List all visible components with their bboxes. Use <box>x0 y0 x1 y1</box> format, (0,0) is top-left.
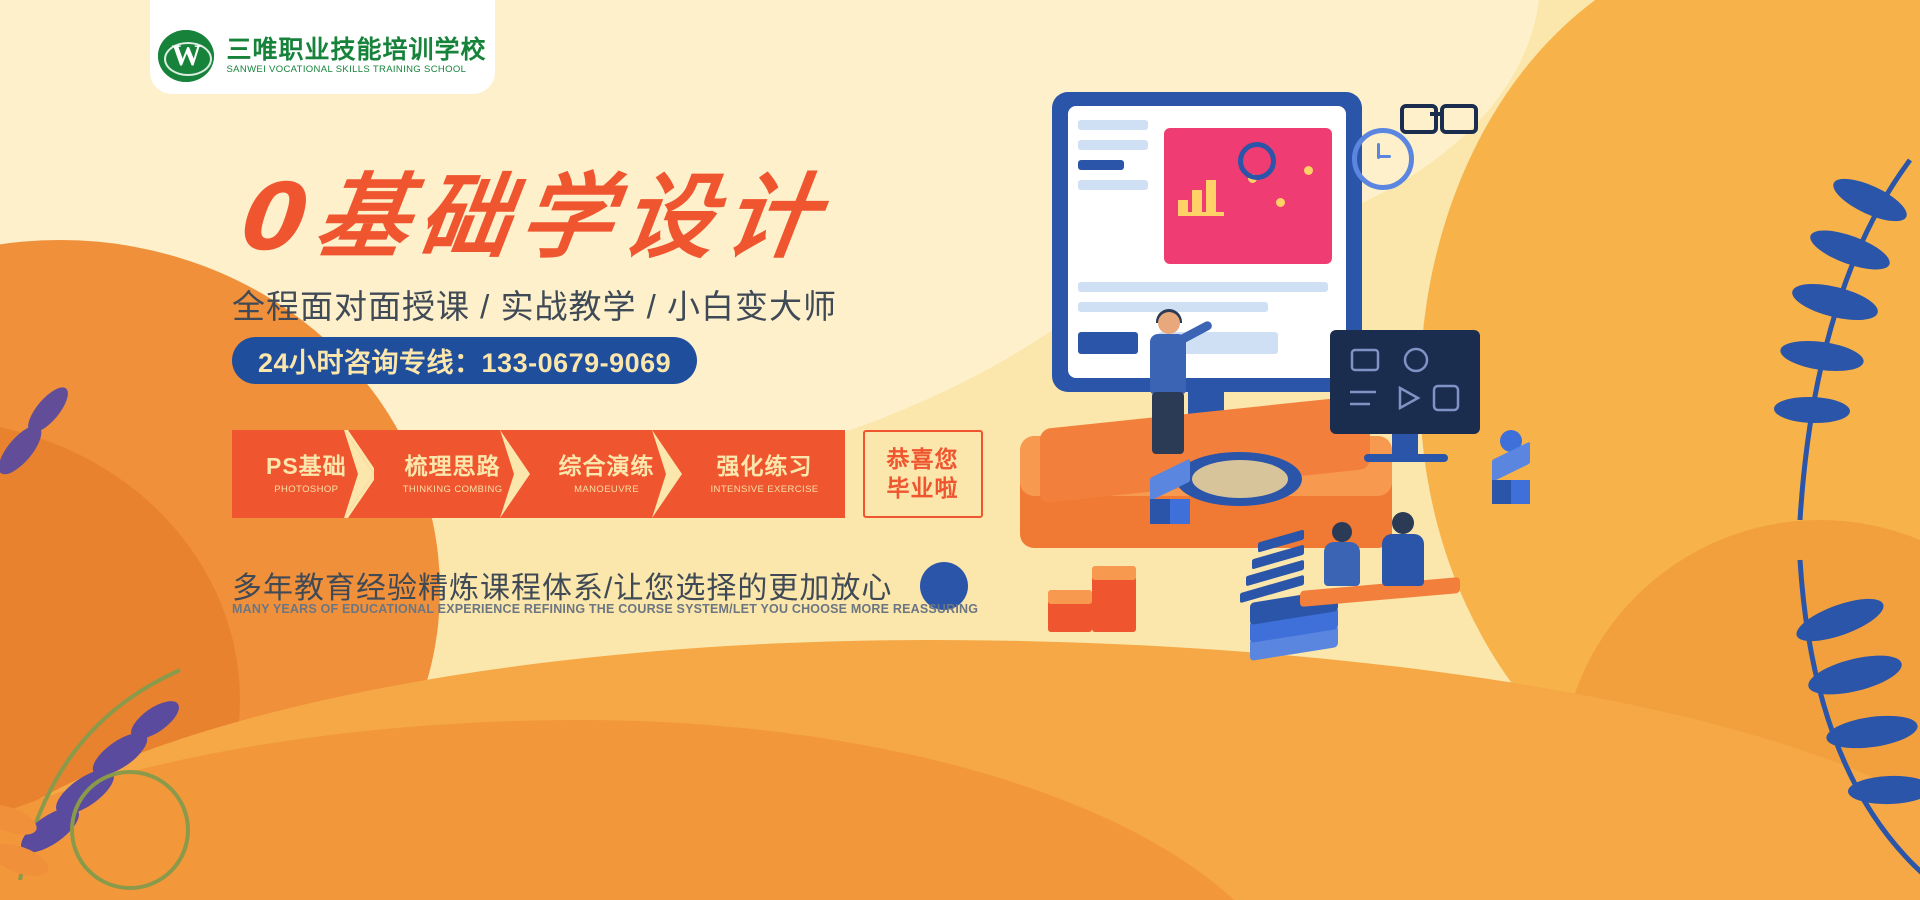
step-label-cn: PS基础 <box>266 453 347 479</box>
chevron-right-icon <box>500 430 530 518</box>
presenter-figure <box>1140 312 1196 462</box>
illustration <box>1000 60 1620 680</box>
clock-icon <box>1352 128 1414 190</box>
process-step[interactable]: 强化练习 INTENSIVE EXERCISE <box>681 430 845 518</box>
step-label-en: PHOTOSHOP <box>274 484 338 495</box>
school-logo-icon: W <box>158 30 214 82</box>
monitor-screen <box>1068 106 1346 378</box>
seated-figures <box>1318 512 1468 622</box>
leaf-decoration-right <box>1630 120 1920 540</box>
cube-icon <box>1492 460 1530 504</box>
logo-letter: W <box>171 41 201 71</box>
process-step[interactable]: 梳理思路 THINKING COMBING <box>373 430 529 518</box>
process-step[interactable]: 综合演练 MANOEUVRE <box>529 430 681 518</box>
promo-banner: W 三唯职业技能培训学校 SANWEI VOCATIONAL SKILLS TR… <box>0 0 1920 900</box>
process-step[interactable]: PS基础 PHOTOSHOP <box>232 430 373 518</box>
tv-foot <box>1364 454 1448 462</box>
step-label-en: THINKING COMBING <box>403 484 503 495</box>
tv-panel-icon <box>1330 330 1480 434</box>
screen-graphic-panel <box>1164 128 1332 264</box>
tv-stand <box>1392 434 1418 456</box>
leaf-decoration-right-lower <box>1610 500 1920 900</box>
step-label-en: MANOEUVRE <box>574 484 639 495</box>
graduation-badge[interactable]: 恭喜您 毕业啦 <box>863 430 983 518</box>
school-name-cn: 三唯职业技能培训学校 <box>226 37 486 63</box>
step-label-en: INTENSIVE EXERCISE <box>711 484 819 495</box>
chevron-right-icon <box>652 430 682 518</box>
logo-card: W 三唯职业技能培训学校 SANWEI VOCATIONAL SKILLS TR… <box>150 0 495 94</box>
hotline-pill[interactable]: 24小时咨询专线：133-0679-9069 <box>232 337 697 384</box>
graduation-line-1: 恭喜您 <box>887 445 959 474</box>
step-label-cn: 梳理思路 <box>405 453 501 479</box>
step-label-cn: 综合演练 <box>559 453 655 479</box>
orange-stairs <box>1048 560 1138 632</box>
tagline-en: MANY YEARS OF EDUCATIONAL EXPERIENCE REF… <box>232 602 978 616</box>
stage-oval-inner <box>1192 460 1288 498</box>
leaf-decoration-left-upper <box>0 330 220 630</box>
process-steps: PS基础 PHOTOSHOP 梳理思路 THINKING COMBING 综合演… <box>232 430 983 518</box>
step-label-cn: 强化练习 <box>717 453 813 479</box>
glasses-icon <box>1400 100 1474 130</box>
cube-icon <box>1150 478 1190 524</box>
subtitle: 全程面对面授课 / 实战教学 / 小白变大师 <box>232 280 837 328</box>
tagline-cn: 多年教育经验精炼课程体系/让您选择的更加放心 <box>232 563 892 607</box>
chevron-right-icon <box>344 430 374 518</box>
school-name-en: SANWEI VOCATIONAL SKILLS TRAINING SCHOOL <box>226 65 486 75</box>
graduation-line-2: 毕业啦 <box>887 474 959 503</box>
headline: 0基础学设计 <box>237 172 834 264</box>
